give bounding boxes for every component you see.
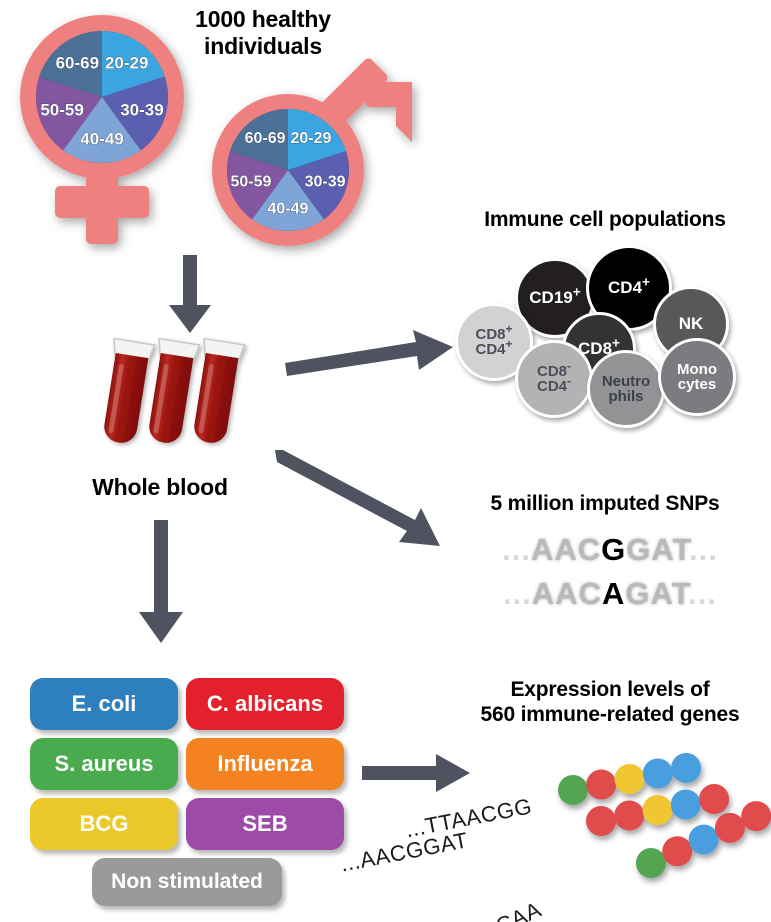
immune-cell-label: CD8+CD4+: [475, 327, 512, 358]
age-slice-label: 40-49: [268, 201, 309, 218]
stimulus-label: Influenza: [217, 751, 312, 777]
snp-left-flank: AAC: [532, 576, 602, 611]
immune-cell-neutrophils[interactable]: Neutrophils: [587, 350, 665, 428]
stimulus-label: C. albicans: [207, 691, 323, 717]
gene-bead: [671, 753, 701, 783]
immune-cell-label: Neutrophils: [602, 374, 650, 405]
expression-heading-line2: 560 immune-related genes: [460, 703, 760, 728]
gene-bead: [586, 770, 616, 800]
expression-heading-line1: Expression levels of: [460, 678, 760, 703]
stimulus-saureus[interactable]: S. aureus: [30, 738, 178, 790]
immune-heading: Immune cell populations: [450, 208, 760, 233]
snp-prefix: ...: [503, 576, 532, 611]
snp-sequences: ...AACGGAT......AACAGAT...: [470, 532, 750, 620]
gene-bead: [558, 775, 588, 805]
female-age-pie: 20-2930-3940-4950-5960-69: [36, 31, 168, 163]
stimulus-influenza[interactable]: Influenza: [186, 738, 344, 790]
gene-strand-sequence: ...CACGCAA: [414, 897, 545, 922]
immune-cell-label: CD8-CD4-: [537, 364, 571, 395]
snp-sequence-row: ...AACGGAT...: [470, 532, 750, 568]
stimulus-label: SEB: [242, 811, 287, 837]
blood-collection-tubes: [95, 335, 275, 460]
immune-cell-label: Monocytes: [677, 362, 717, 393]
snp-suffix: ...: [689, 532, 718, 567]
expression-heading: Expression levels of 560 immune-related …: [460, 678, 760, 728]
age-slice-label: 40-49: [80, 130, 123, 149]
stimuli-panel: E. coliC. albicansS. aureusInfluenzaBCGS…: [30, 678, 345, 893]
snp-variant-allele: G: [601, 532, 626, 567]
immune-cell-cd8cd4[interactable]: CD8-CD4-: [515, 340, 593, 418]
gene-strand-sequence: ...AACGGAT: [338, 827, 470, 876]
stimulus-bcg[interactable]: BCG: [30, 798, 178, 850]
blood-tube: [188, 339, 244, 446]
snp-heading: 5 million imputed SNPs: [450, 492, 760, 517]
snp-prefix: ...: [502, 532, 531, 567]
blood-tube: [98, 339, 154, 446]
snp-left-flank: AAC: [531, 532, 601, 567]
gene-bead: [671, 790, 701, 820]
arrow-blood-to-immune: [285, 330, 455, 380]
male-age-pie: 20-2930-3940-4950-5960-69: [227, 109, 349, 231]
snp-right-flank: GAT: [626, 532, 689, 567]
stimulus-seb[interactable]: SEB: [186, 798, 344, 850]
gene-bead: [643, 759, 673, 789]
age-slice-label: 20-29: [105, 54, 148, 73]
blood-tube: [143, 339, 199, 446]
snp-suffix: ...: [688, 576, 717, 611]
stimulus-nonstimulated[interactable]: Non stimulated: [92, 858, 282, 906]
age-slice-label: 50-59: [230, 174, 271, 191]
whole-blood-label: Whole blood: [60, 474, 260, 501]
immune-cell-label: NK: [679, 315, 704, 333]
gene-bead: [699, 784, 729, 814]
age-slice-label: 20-29: [290, 130, 331, 147]
gene-bead: [614, 801, 644, 831]
age-slice-label: 30-39: [305, 174, 346, 191]
immune-cell-cluster: CD19+CD4+CD8+CD4+CD8+NKCD8-CD4-Neutrophi…: [455, 245, 765, 415]
snp-sequence-row: ...AACAGAT...: [470, 576, 750, 612]
age-slice-label: 60-69: [245, 130, 286, 147]
snp-right-flank: GAT: [625, 576, 688, 611]
immune-cell-label: CD19+: [529, 289, 580, 307]
immune-cell-monocytes[interactable]: Monocytes: [658, 338, 736, 416]
gene-bead: [636, 848, 666, 878]
gene-bead: [586, 806, 616, 836]
stimulus-label: E. coli: [72, 691, 137, 717]
stimulus-label: S. aureus: [54, 751, 153, 777]
arrow-blood-to-stimuli: [133, 520, 193, 645]
gene-bead: [689, 825, 719, 855]
age-slice-label: 50-59: [40, 100, 83, 119]
gene-bead: [615, 764, 645, 794]
stimulus-label: BCG: [80, 811, 129, 837]
gene-bead: [715, 813, 745, 843]
male-gender-symbol[interactable]: 20-2930-3940-4950-5960-69: [200, 82, 430, 257]
age-slice-label: 30-39: [120, 100, 163, 119]
stimulus-ecoli[interactable]: E. coli: [30, 678, 178, 730]
gene-expression-strands: ...TTAACGG...AACGGAT...CACGCAA: [455, 735, 771, 920]
immune-cell-label: CD4+: [608, 279, 650, 297]
age-slice-label: 60-69: [56, 54, 99, 73]
gene-bead: [662, 836, 692, 866]
gene-bead: [741, 801, 771, 831]
female-gender-symbol[interactable]: 20-2930-3940-4950-5960-69: [8, 14, 218, 244]
stimulus-label: Non stimulated: [111, 870, 263, 894]
arrow-cohort-to-blood: [163, 255, 218, 335]
gene-bead: [643, 795, 673, 825]
arrow-blood-to-snps: [275, 450, 455, 550]
snp-variant-allele: A: [602, 576, 625, 611]
stimulus-calbicans[interactable]: C. albicans: [186, 678, 344, 730]
